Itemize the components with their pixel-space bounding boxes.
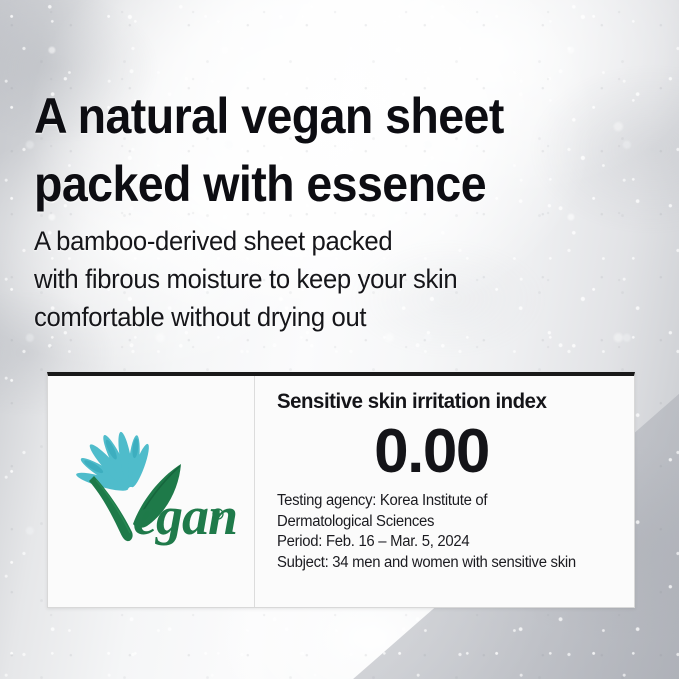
product-detail-image: A natural vegan sheet packed with essenc… bbox=[0, 0, 679, 679]
page-headline: A natural vegan sheet packed with essenc… bbox=[34, 82, 592, 218]
index-value: 0.00 bbox=[277, 420, 634, 484]
card-logo-cell: egan bbox=[48, 376, 255, 607]
irritation-index-card: egan Sensitive skin irritation index 0.0… bbox=[47, 372, 635, 608]
vegan-logo: egan bbox=[63, 428, 239, 560]
page-subhead: A bamboo-derived sheet packed with fibro… bbox=[34, 222, 566, 336]
index-title: Sensitive skin irritation index bbox=[277, 390, 623, 414]
card-index-cell: Sensitive skin irritation index 0.00 Tes… bbox=[255, 376, 634, 607]
vegan-logo-wordmark: egan bbox=[133, 486, 237, 546]
index-details: Testing agency: Korea Institute of Derma… bbox=[277, 491, 620, 573]
